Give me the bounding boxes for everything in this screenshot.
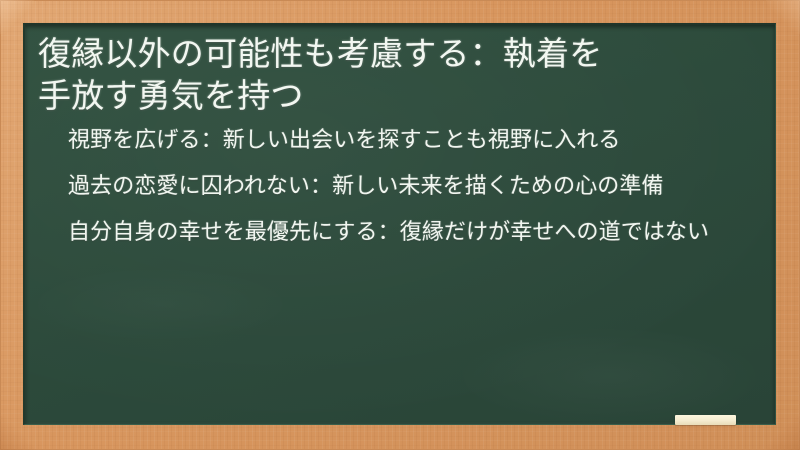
slide-title: 復縁以外の可能性も考慮する：執着を 手放す勇気を持つ bbox=[38, 33, 757, 117]
blackboard-slide: 復縁以外の可能性も考慮する：執着を 手放す勇気を持つ 視野を広げる：新しい出会い… bbox=[0, 0, 800, 450]
slide-bullet-list: 視野を広げる：新しい出会いを探すことも視野に入れる 過去の恋愛に囚われない：新し… bbox=[38, 126, 757, 246]
list-item: 自分自身の幸せを最優先にする：復縁だけが幸せへの道ではない bbox=[68, 218, 723, 247]
list-item: 視野を広げる：新しい出会いを探すことも視野に入れる bbox=[68, 126, 723, 155]
chalkboard-surface: 復縁以外の可能性も考慮する：執着を 手放す勇気を持つ 視野を広げる：新しい出会い… bbox=[23, 23, 776, 425]
chalkboard-content: 復縁以外の可能性も考慮する：執着を 手放す勇気を持つ 視野を広げる：新しい出会い… bbox=[25, 25, 775, 424]
chalk-stick bbox=[675, 415, 736, 425]
list-item: 過去の恋愛に囚われない：新しい未来を描くための心の準備 bbox=[68, 172, 723, 201]
